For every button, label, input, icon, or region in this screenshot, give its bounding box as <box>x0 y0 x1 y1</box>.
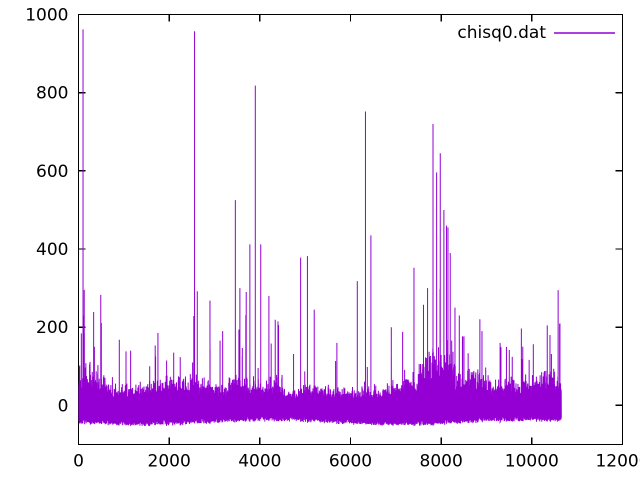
y-tick-label: 200 <box>36 318 68 338</box>
plot-canvas: 02004006008001000 0200040006000800010000… <box>0 0 640 480</box>
x-tick-label: 0 <box>73 452 84 472</box>
y-tick-label: 1000 <box>25 6 68 26</box>
x-tick-label: 2000 <box>148 452 191 472</box>
y-tick-label: 400 <box>36 240 68 260</box>
x-axis-tick-labels: 020004000600080001000012000 <box>73 452 640 472</box>
y-tick-label: 600 <box>36 162 68 182</box>
x-tick-label: 12000 <box>595 452 640 472</box>
legend-label-chisq0: chisq0.dat <box>457 23 546 43</box>
y-tick-label: 0 <box>58 396 69 416</box>
x-tick-label: 6000 <box>329 452 372 472</box>
chart-figure: 02004006008001000 0200040006000800010000… <box>0 0 640 480</box>
x-tick-label: 10000 <box>505 452 559 472</box>
x-tick-label: 4000 <box>238 452 281 472</box>
x-tick-label: 8000 <box>420 452 463 472</box>
y-tick-label: 800 <box>36 84 68 104</box>
